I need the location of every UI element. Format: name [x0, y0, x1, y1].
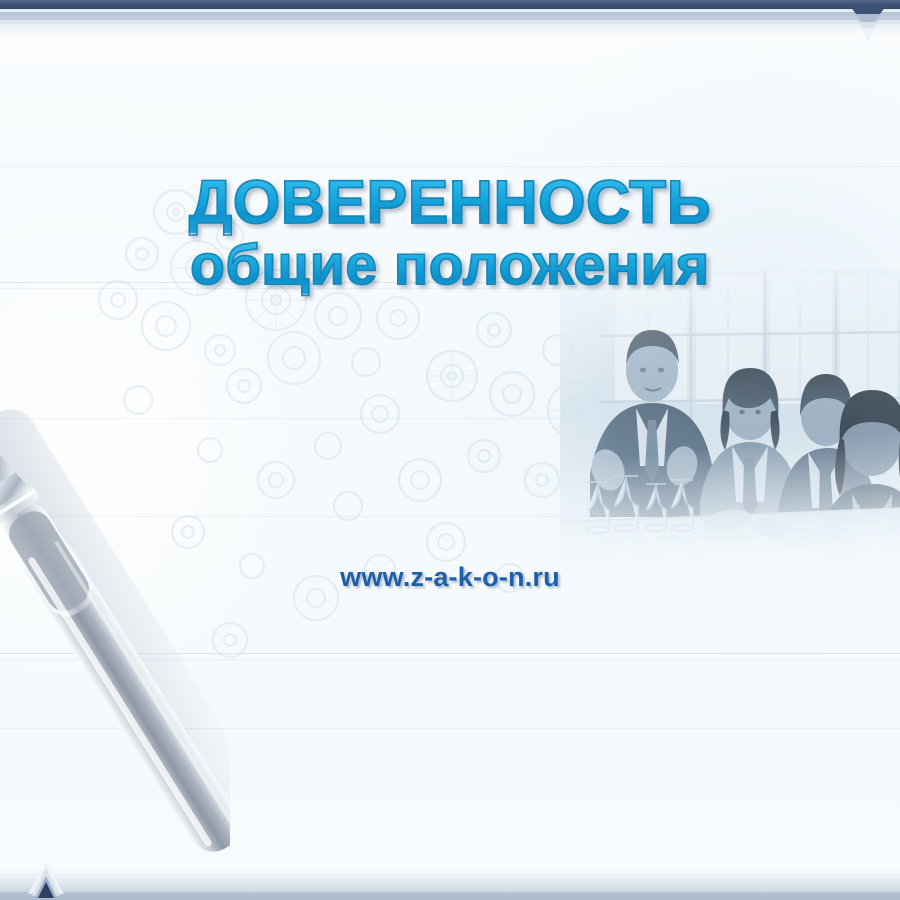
photo-fade-overlay: [560, 270, 900, 570]
top-decorative-border: [0, 0, 900, 34]
chevron-up-icon: [26, 860, 66, 898]
top-border-navy-band: [0, 0, 900, 9]
title-block: ДОВЕРЕННОСТЬ общие положения: [0, 172, 900, 294]
bottom-decorative-border: [0, 870, 900, 900]
rule-line: [0, 653, 900, 654]
rule-line: [0, 728, 900, 729]
bottom-border-gray-band: [0, 883, 900, 892]
page-subtitle: общие положения: [0, 237, 900, 294]
website-url-block: www.z-a-k-o-n.ru: [0, 562, 900, 593]
page-title: ДОВЕРЕННОСТЬ: [0, 172, 900, 233]
bottom-border-blue-band: [0, 892, 900, 900]
rule-line: [0, 659, 900, 660]
rule-line: [0, 166, 900, 167]
presentation-slide: ДОВЕРЕННОСТЬ общие положения www.z-a-k-o…: [0, 0, 900, 900]
website-url-link[interactable]: www.z-a-k-o-n.ru: [340, 562, 560, 593]
top-border-gray-band: [0, 12, 900, 20]
chevron-down-icon: [848, 6, 888, 44]
business-meeting-photo: [560, 270, 900, 570]
top-border-band: [0, 29, 900, 33]
